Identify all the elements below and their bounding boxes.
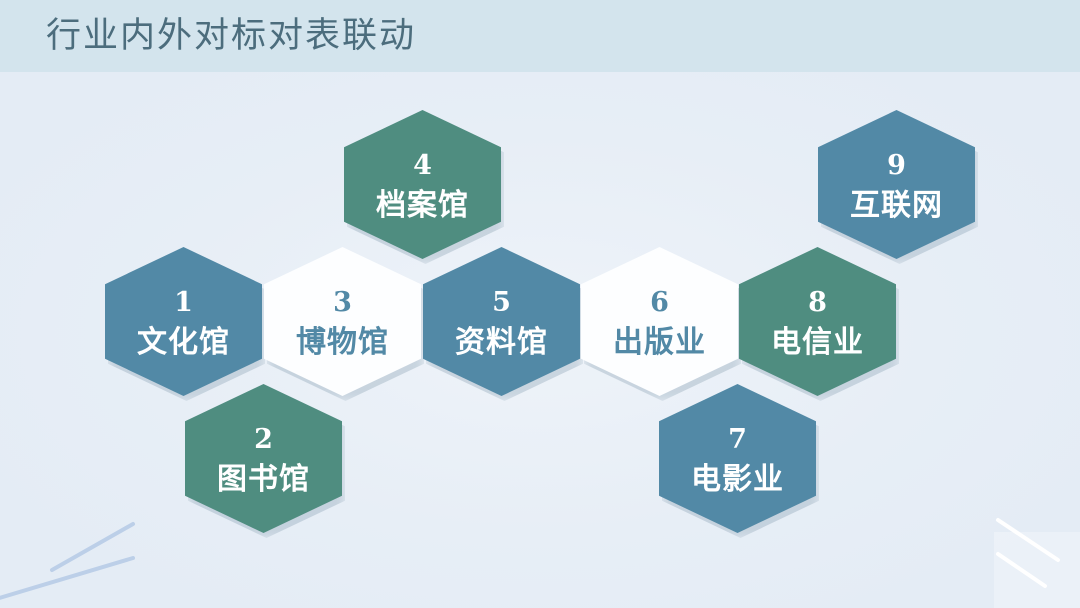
honeycomb-diagram: 4档案馆9互联网1文化馆3博物馆5资料馆6出版业8电信业2图书馆7电影业	[0, 0, 1080, 608]
slide-canvas: 行业内外对标对表联动 4档案馆9互联网1文化馆3博物馆5资料馆6出版业8电信业2…	[0, 0, 1080, 608]
hexagon-label: 电信业	[771, 326, 864, 360]
hexagon-number: 5	[492, 288, 511, 318]
hexagon-number: 8	[808, 288, 827, 318]
hexagon-label: 资料馆	[455, 326, 548, 360]
hexagon-label: 文化馆	[137, 326, 230, 360]
hexagon-number: 6	[650, 288, 669, 318]
hexagon-label: 图书馆	[217, 463, 310, 497]
hexagon-label: 博物馆	[296, 326, 389, 360]
hexagon-label: 档案馆	[376, 189, 469, 223]
hexagon-number: 7	[728, 425, 747, 455]
hexagon-number: 4	[413, 151, 432, 181]
hexagon-number: 9	[887, 151, 906, 181]
hexagon-label: 出版业	[613, 326, 706, 360]
hexagon-label: 互联网	[850, 189, 943, 223]
hexagon-number: 3	[333, 288, 352, 318]
hexagon-label: 电影业	[691, 463, 784, 497]
hexagon-number: 1	[174, 288, 193, 318]
hexagon-number: 2	[254, 425, 273, 455]
